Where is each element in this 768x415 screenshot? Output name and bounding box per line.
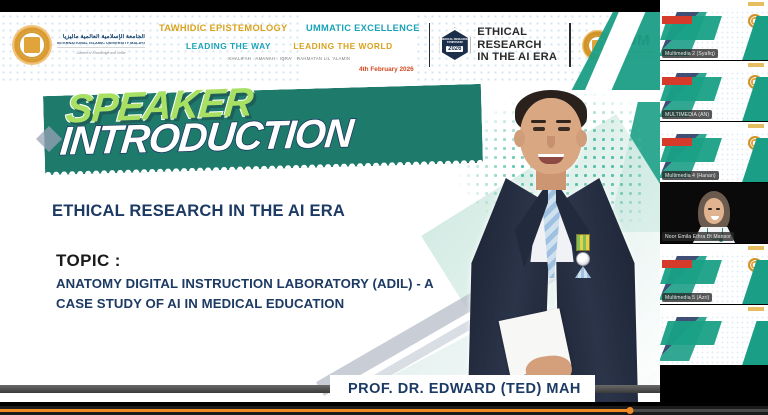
title-word-speaker: SPEAKER — [64, 80, 254, 132]
badge-year: 2026 — [446, 46, 463, 52]
ear-right — [576, 130, 587, 147]
participant-tile[interactable]: Multimedia 5 (Azri) — [660, 244, 768, 305]
tagline-arabic-motto: KHALIFAH · AMANAH · IQRA' · RAHMATAN LIL… — [159, 56, 420, 61]
eye-right — [558, 127, 570, 131]
tagline-row-1: TAWHIDIC EPISTEMOLOGY UMMATIC EXCELLENCE — [159, 18, 420, 36]
top-letterbox — [0, 6, 660, 12]
participant-rail[interactable]: Multimedia 2 (Syafiq) MULTIMEDIA (AN) — [660, 0, 768, 415]
thumb-red-shape — [662, 77, 692, 85]
university-wordmark: الجامعة الإسلامية العالمية ماليزيا INTER… — [57, 34, 145, 56]
progress-handle[interactable] — [626, 407, 633, 414]
thumb-green-shape — [660, 321, 722, 345]
participant-tile[interactable]: MULTIMEDIA (AN) — [660, 61, 768, 122]
badge-top-text: MEDICAL RESEARCH SYMPOSIUM — [439, 38, 470, 44]
tagline-line2-right: LEADING THE WORLD — [293, 41, 392, 51]
video-player[interactable]: الجامعة الإسلامية العالمية ماليزيا INTER… — [0, 0, 768, 415]
speaker-nameplate: PROF. DR. EDWARD (TED) MAH — [330, 375, 595, 402]
eye-right — [716, 208, 720, 210]
shared-screen-thumbnail — [660, 305, 768, 365]
participant-tile[interactable]: Multimedia 2 (Syafiq) — [660, 0, 768, 61]
thumb-header-bar — [660, 61, 768, 69]
player-control-bar[interactable] — [0, 406, 768, 415]
participant-name-label: Noor Emila Ethra Bt Mansor — [662, 232, 734, 241]
thumb-header-bar — [660, 122, 768, 130]
eyebrow-left — [531, 120, 546, 123]
tagline-row-2: LEADING THE WAY LEADING THE WORLD — [159, 36, 420, 54]
university-name-english: INTERNATIONAL ISLAMIC UNIVERSITY MALAYSI… — [57, 42, 145, 46]
eyebrow-right — [556, 120, 571, 123]
face — [704, 198, 724, 224]
speaker-name: PROF. DR. EDWARD (TED) MAH — [348, 381, 581, 397]
thumb-red-shape — [662, 260, 692, 268]
university-tagline: Garden of Knowledge and Virtue — [57, 52, 145, 56]
tagline-line1-right: UMMATIC EXCELLENCE — [306, 23, 420, 33]
ear-left — [514, 130, 525, 147]
event-title: ETHICAL RESEARCH IN THE AI ERA — [477, 26, 560, 64]
shared-slide-stage: الجامعة الإسلامية العالمية ماليزيا INTER… — [0, 6, 660, 402]
eye-left — [533, 127, 545, 131]
medal-icon — [576, 252, 590, 266]
participant-name-label: Multimedia 5 (Azri) — [662, 293, 712, 302]
thumb-header-bar — [660, 244, 768, 252]
tagline-line2-left: LEADING THE WAY — [186, 41, 271, 51]
wordmark-divider — [57, 47, 145, 48]
thumb-red-shape — [662, 16, 692, 24]
participant-name-label: Multimedia 2 (Syafiq) — [662, 49, 718, 58]
topic-text: ANATOMY DIGITAL INSTRUCTION LABORATORY (… — [56, 274, 456, 315]
speaker-portrait — [452, 82, 652, 402]
participant-name-label: Multimedia 4 (Hanan) — [662, 171, 719, 180]
eye-left — [708, 208, 712, 210]
progress-fill — [0, 409, 630, 412]
iium-seal-icon — [12, 25, 52, 65]
slide-subtitle: ETHICAL RESEARCH IN THE AI ERA — [52, 202, 345, 221]
participant-tile[interactable]: Multimedia 4 (Hanan) — [660, 122, 768, 183]
participant-name-label: MULTIMEDIA (AN) — [662, 110, 712, 119]
header-divider-1 — [429, 23, 431, 67]
university-name-arabic: الجامعة الإسلامية العالمية ماليزيا — [57, 34, 145, 41]
thumb-header-bar — [660, 305, 768, 313]
thumb-header-bar — [660, 0, 768, 8]
thumb-teal-corner — [738, 321, 768, 365]
medal-ribbon-icon — [576, 234, 590, 251]
tagline-line1-left: TAWHIDIC EPISTEMOLOGY — [159, 23, 288, 33]
symposium-badge-icon: MEDICAL RESEARCH SYMPOSIUM 2026 — [439, 28, 470, 63]
topic-label: TOPIC : — [56, 251, 121, 271]
progress-scrubber[interactable] — [0, 409, 768, 412]
slide-header: الجامعة الإسلامية العالمية ماليزيا INTER… — [0, 6, 660, 84]
header-divider-2 — [569, 23, 571, 67]
participant-tile[interactable]: Noor Emila Ethra Bt Mansor — [660, 183, 768, 244]
event-date: 4th February 2026 — [159, 66, 420, 73]
nose — [547, 136, 555, 148]
thumb-red-shape — [662, 138, 692, 146]
participant-tile[interactable] — [660, 305, 768, 366]
event-tagline-block: TAWHIDIC EPISTEMOLOGY UMMATIC EXCELLENCE… — [159, 18, 420, 73]
